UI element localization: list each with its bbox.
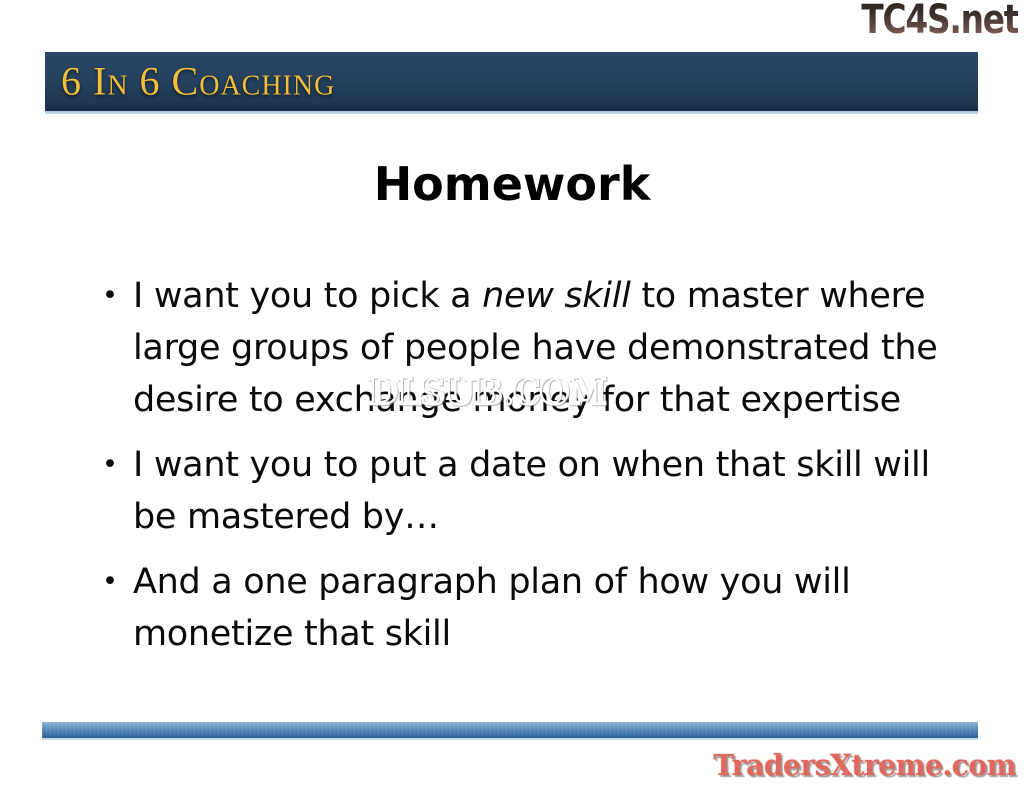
list-item: And a one paragraph plan of how you will… [96, 556, 958, 660]
slide-canvas: TC4S.net 6 In 6 Coaching Homework I want… [0, 0, 1024, 791]
tc4s-watermark: TC4S.net [861, 0, 1018, 42]
list-item: I want you to put a date on when that sk… [96, 439, 958, 543]
dlsub-watermark-text: DLSUB.COM [368, 371, 606, 413]
page-title: Homework [0, 157, 1024, 211]
bullet-text-lead: I want you to pick a [133, 276, 482, 316]
bullet-list: I want you to pick a new skill to master… [96, 270, 958, 673]
footer-divider-bar [42, 722, 978, 738]
tradersxtreme-watermark: TradersXtreme.com [713, 748, 1016, 782]
bullet-text-lead: And a one paragraph plan of how you will… [133, 562, 851, 654]
dlsub-watermark: DLSUB.COM [368, 371, 606, 413]
banner-title: 6 In 6 Coaching [61, 57, 335, 104]
bullet-text-lead: I want you to put a date on when that sk… [133, 445, 930, 537]
header-banner: 6 In 6 Coaching [45, 52, 978, 111]
bullet-text-emphasis: new skill [482, 276, 630, 316]
